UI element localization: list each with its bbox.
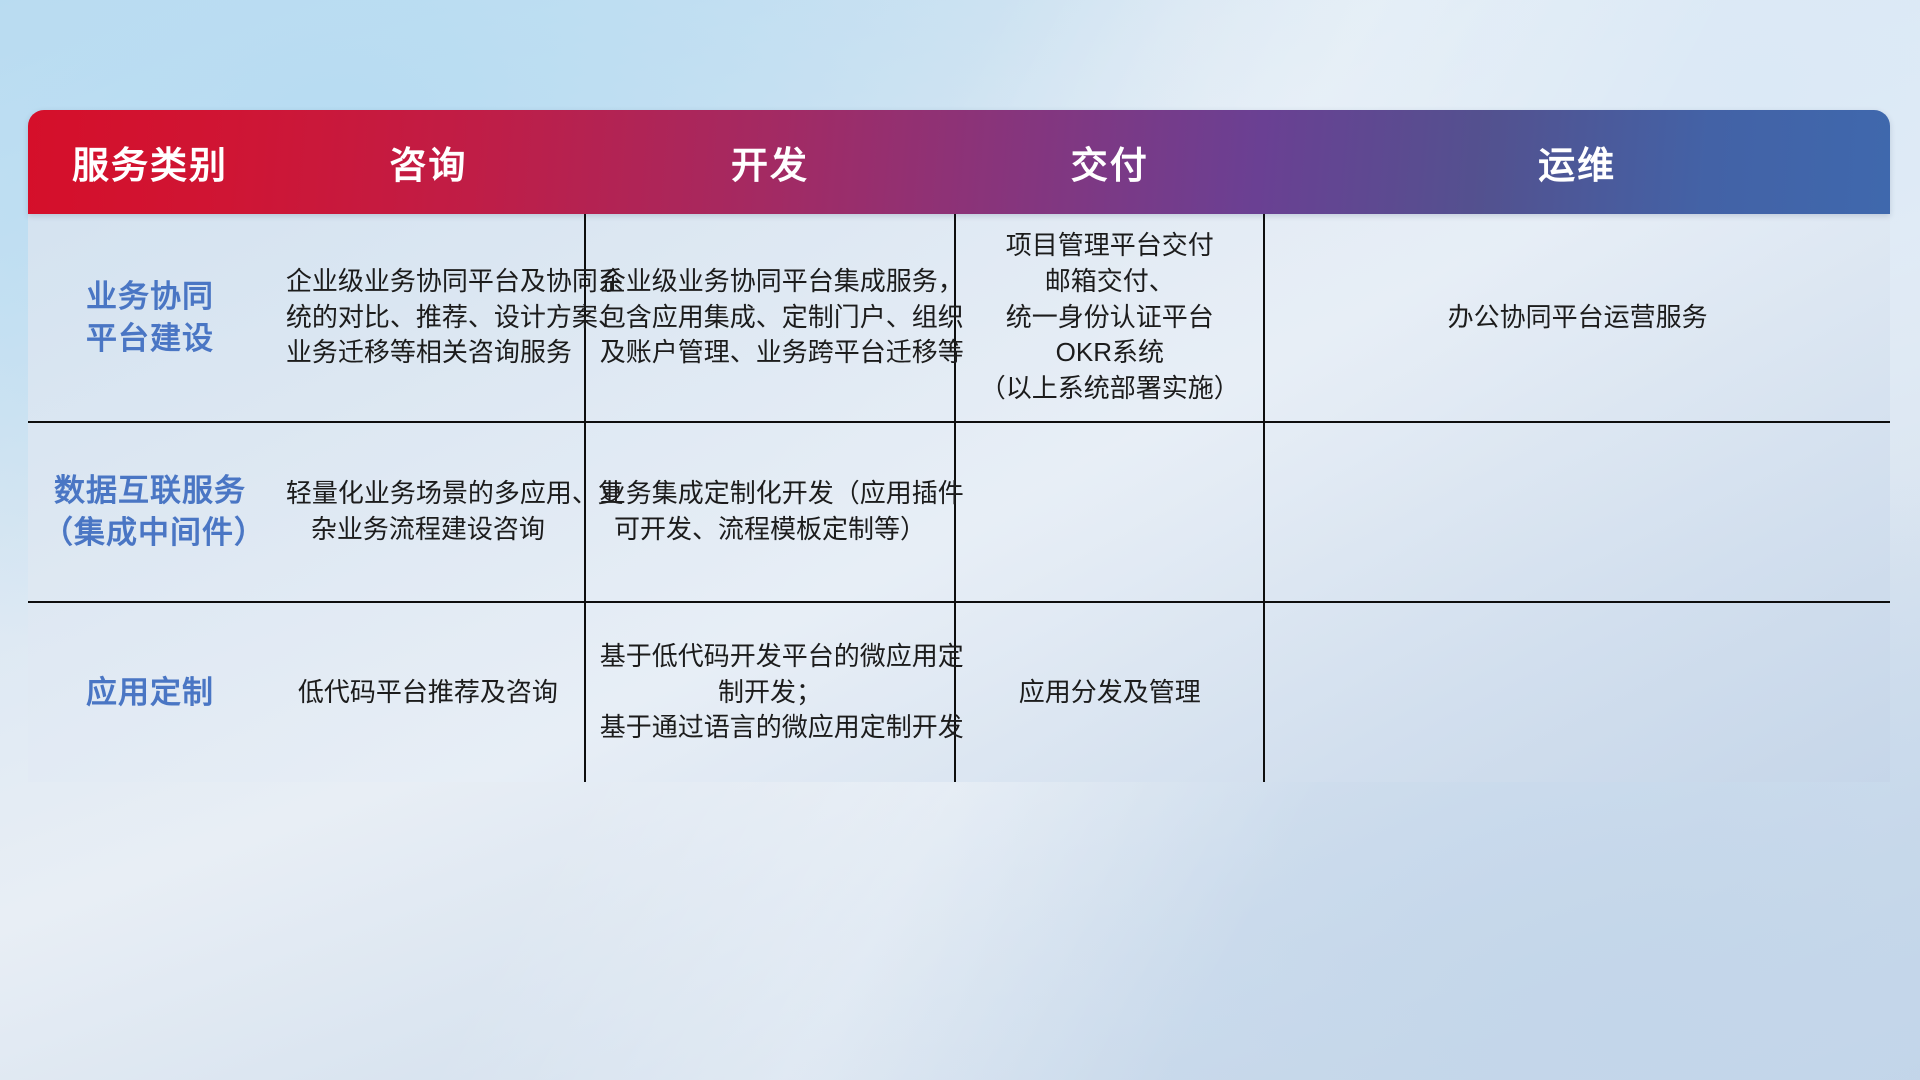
cell-operations bbox=[1264, 602, 1890, 782]
cell-delivery: 项目管理平台交付 邮箱交付、 统一身份认证平台 OKR系统 （以上系统部署实施） bbox=[955, 214, 1264, 422]
cell-line: OKR系统 bbox=[970, 335, 1249, 371]
column-header-consulting: 咨询 bbox=[272, 110, 585, 214]
cell-development: 基于低代码开发平台的微应用定 制开发； 基于通过语言的微应用定制开发 bbox=[585, 602, 956, 782]
cell-line: 办公协同平台运营服务 bbox=[1279, 300, 1876, 336]
category-line: 业务协同 bbox=[42, 276, 258, 318]
cell-line: 统的对比、推荐、设计方案、 bbox=[286, 300, 570, 336]
cell-line: 业务集成定制化开发（应用插件 bbox=[600, 476, 941, 512]
cell-line: 可开发、流程模板定制等） bbox=[600, 512, 941, 548]
column-header-operations: 运维 bbox=[1264, 110, 1890, 214]
cell-line: 应用分发及管理 bbox=[970, 675, 1249, 711]
cell-line: 基于通过语言的微应用定制开发 bbox=[600, 710, 941, 746]
row-category-label: 业务协同 平台建设 bbox=[28, 214, 272, 422]
header-row: 服务类别 咨询 开发 交付 运维 bbox=[28, 110, 1890, 214]
cell-delivery bbox=[955, 422, 1264, 602]
cell-operations bbox=[1264, 422, 1890, 602]
cell-development: 业务集成定制化开发（应用插件 可开发、流程模板定制等） bbox=[585, 422, 956, 602]
row-category-label: 数据互联服务 （集成中间件） bbox=[28, 422, 272, 602]
table-head: 服务类别 咨询 开发 交付 运维 bbox=[28, 110, 1890, 214]
category-line: 数据互联服务 bbox=[42, 470, 258, 512]
service-table: 服务类别 咨询 开发 交付 运维 业务协同 平台建设 企业级业务协同平台及协同系… bbox=[28, 110, 1890, 782]
cell-line: 制开发； bbox=[600, 675, 941, 711]
table-row: 数据互联服务 （集成中间件） 轻量化业务场景的多应用、复 杂业务流程建设咨询 业… bbox=[28, 422, 1890, 602]
column-header-category: 服务类别 bbox=[28, 110, 272, 214]
cell-line: 邮箱交付、 bbox=[970, 264, 1249, 300]
cell-operations: 办公协同平台运营服务 bbox=[1264, 214, 1890, 422]
cell-line: 杂业务流程建设咨询 bbox=[286, 512, 570, 548]
cell-line: 统一身份认证平台 bbox=[970, 300, 1249, 336]
row-category-label: 应用定制 bbox=[28, 602, 272, 782]
category-line: （集成中间件） bbox=[42, 512, 258, 554]
cell-line: （以上系统部署实施） bbox=[970, 371, 1249, 407]
cell-line: 及账户管理、业务跨平台迁移等 bbox=[600, 335, 941, 371]
cell-consulting: 企业级业务协同平台及协同系 统的对比、推荐、设计方案、 业务迁移等相关咨询服务 bbox=[272, 214, 585, 422]
table-row: 应用定制 低代码平台推荐及咨询 基于低代码开发平台的微应用定 制开发； 基于通过… bbox=[28, 602, 1890, 782]
table-body: 业务协同 平台建设 企业级业务协同平台及协同系 统的对比、推荐、设计方案、 业务… bbox=[28, 214, 1890, 782]
cell-development: 企业级业务协同平台集成服务， 包含应用集成、定制门户、组织 及账户管理、业务跨平… bbox=[585, 214, 956, 422]
cell-line: 低代码平台推荐及咨询 bbox=[286, 675, 570, 711]
cell-consulting: 轻量化业务场景的多应用、复 杂业务流程建设咨询 bbox=[272, 422, 585, 602]
cell-line: 企业级业务协同平台及协同系 bbox=[286, 264, 570, 300]
cell-consulting: 低代码平台推荐及咨询 bbox=[272, 602, 585, 782]
cell-line: 业务迁移等相关咨询服务 bbox=[286, 335, 570, 371]
category-line: 应用定制 bbox=[42, 672, 258, 714]
cell-line: 项目管理平台交付 bbox=[970, 228, 1249, 264]
category-line: 平台建设 bbox=[42, 318, 258, 360]
cell-delivery: 应用分发及管理 bbox=[955, 602, 1264, 782]
table-row: 业务协同 平台建设 企业级业务协同平台及协同系 统的对比、推荐、设计方案、 业务… bbox=[28, 214, 1890, 422]
service-matrix-table: 服务类别 咨询 开发 交付 运维 业务协同 平台建设 企业级业务协同平台及协同系… bbox=[28, 110, 1890, 782]
cell-line: 轻量化业务场景的多应用、复 bbox=[286, 476, 570, 512]
cell-line: 包含应用集成、定制门户、组织 bbox=[600, 300, 941, 336]
cell-line: 企业级业务协同平台集成服务， bbox=[600, 264, 941, 300]
cell-line: 基于低代码开发平台的微应用定 bbox=[600, 639, 941, 675]
column-header-development: 开发 bbox=[585, 110, 956, 214]
column-header-delivery: 交付 bbox=[955, 110, 1264, 214]
